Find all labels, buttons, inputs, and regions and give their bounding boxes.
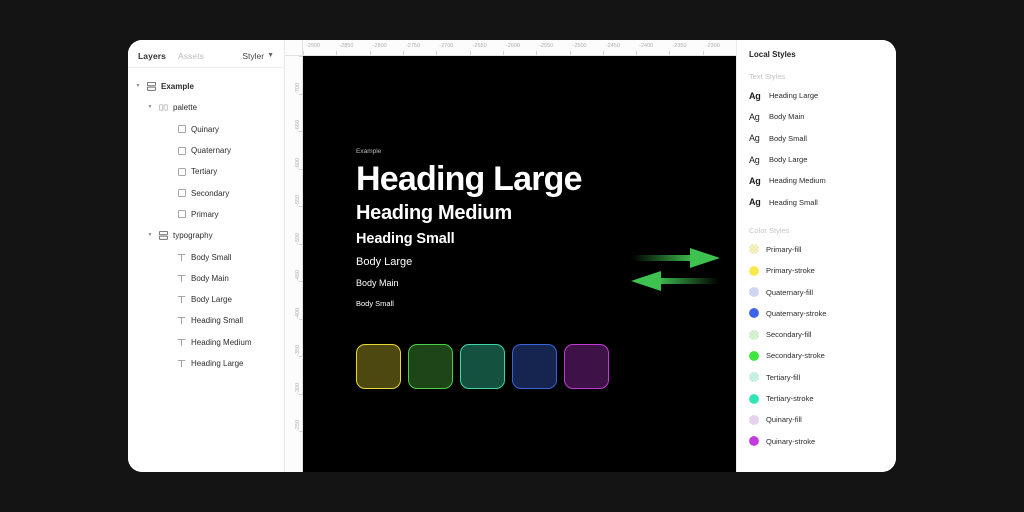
caret-placeholder: ▼ xyxy=(164,191,172,196)
tab-layers[interactable]: Layers xyxy=(138,51,166,61)
layer-label: Primary xyxy=(191,210,219,219)
color-swatch-icon xyxy=(749,308,759,318)
layer-row-tertiary[interactable]: ▼Tertiary xyxy=(128,161,284,182)
color-style-row[interactable]: Tertiary-fill xyxy=(737,367,896,388)
text-style-preview-icon: Ag xyxy=(749,155,762,165)
palette-swatch-primary[interactable] xyxy=(356,344,401,389)
color-style-row[interactable]: Primary-stroke xyxy=(737,260,896,281)
color-style-row[interactable]: Quinary-stroke xyxy=(737,430,896,451)
text-style-label: Body Main xyxy=(769,112,804,121)
styler-label: Styler xyxy=(242,51,264,61)
text-style-label: Body Small xyxy=(769,134,807,143)
ruler-tick-h: -2300 xyxy=(703,40,736,55)
layer-label: palette xyxy=(173,103,197,112)
text-icon xyxy=(176,294,187,305)
component-set-icon xyxy=(146,81,157,92)
layer-label: Heading Large xyxy=(191,359,243,368)
caret-placeholder: ▼ xyxy=(164,361,172,366)
color-style-row[interactable]: Quaternary-fill xyxy=(737,281,896,302)
tab-assets[interactable]: Assets xyxy=(178,51,204,61)
caret-expanded-icon[interactable]: ▼ xyxy=(146,233,154,238)
ruler-tick-h: -2650 xyxy=(470,40,503,55)
text-style-row[interactable]: AgBody Large xyxy=(737,149,896,170)
text-style-label: Body Large xyxy=(769,155,807,164)
color-style-row[interactable]: Quaternary-stroke xyxy=(737,303,896,324)
canvas-area: -2900-2850-2800-2750-2700-2650-2600-2550… xyxy=(284,40,736,472)
layer-label: Quaternary xyxy=(191,146,231,155)
layers-panel-tabs: Layers Assets Styler ▼ xyxy=(128,44,284,68)
text-style-preview-icon: Ag xyxy=(749,197,762,207)
layer-label: Example xyxy=(161,82,194,91)
type-specimen[interactable]: Body Small xyxy=(356,294,582,314)
arrow-left-icon xyxy=(631,271,719,291)
layer-label: Secondary xyxy=(191,189,229,198)
text-style-preview-icon: Ag xyxy=(749,133,762,143)
color-style-label: Tertiary-stroke xyxy=(766,394,814,403)
text-style-label: Heading Large xyxy=(769,91,818,100)
text-style-preview-icon: Ag xyxy=(749,91,762,101)
layer-row-palette[interactable]: ▼palette xyxy=(128,97,284,118)
component-set-icon xyxy=(158,230,169,241)
ruler-tick-h: -2500 xyxy=(570,40,603,55)
layer-row-body-large[interactable]: ▼Body Large xyxy=(128,289,284,310)
color-style-label: Secondary-stroke xyxy=(766,351,825,360)
ruler-tick-h: -2350 xyxy=(669,40,702,55)
local-styles-title: Local Styles xyxy=(737,48,896,59)
layer-row-heading-medium[interactable]: ▼Heading Medium xyxy=(128,332,284,353)
text-style-row[interactable]: AgHeading Small xyxy=(737,191,896,212)
rectangle-icon xyxy=(176,166,187,177)
ruler-tick-h: -2400 xyxy=(636,40,669,55)
ruler-tick-h: -2550 xyxy=(536,40,569,55)
vertical-ruler[interactable]: -750-700-650-600-550-500-450-400-350-300… xyxy=(285,56,303,472)
frame-label: Example xyxy=(356,148,381,155)
palette-swatch-quinary[interactable] xyxy=(564,344,609,389)
text-style-preview-icon: Ag xyxy=(749,176,762,186)
horizontal-ruler[interactable]: -2900-2850-2800-2750-2700-2650-2600-2550… xyxy=(303,40,736,56)
arrow-pair-graphic xyxy=(628,246,723,298)
color-swatch-icon xyxy=(749,372,759,382)
color-style-label: Primary-fill xyxy=(766,245,801,254)
type-specimen[interactable]: Body Main xyxy=(356,273,582,294)
color-swatch-icon xyxy=(749,415,759,425)
text-style-label: Heading Medium xyxy=(769,176,826,185)
text-styles-header: Text Styles xyxy=(737,59,896,85)
caret-expanded-icon[interactable]: ▼ xyxy=(146,105,154,110)
palette-swatch-row xyxy=(356,344,609,389)
caret-placeholder: ▼ xyxy=(164,148,172,153)
color-style-label: Secondary-fill xyxy=(766,330,811,339)
caret-placeholder: ▼ xyxy=(164,276,172,281)
ruler-corner xyxy=(285,40,303,56)
layer-row-body-main[interactable]: ▼Body Main xyxy=(128,268,284,289)
grid-icon xyxy=(158,102,169,113)
color-swatch-icon xyxy=(749,394,759,404)
color-swatch-icon xyxy=(749,266,759,276)
color-style-label: Quaternary-stroke xyxy=(766,309,826,318)
color-swatch-icon xyxy=(749,330,759,340)
layer-tree: ▼Example▼palette▼Quinary▼Quaternary▼Tert… xyxy=(128,68,284,374)
type-specimen[interactable]: Heading Medium xyxy=(356,198,582,228)
layer-label: Heading Small xyxy=(191,316,243,325)
color-style-row[interactable]: Quinary-fill xyxy=(737,409,896,430)
chevron-down-icon: ▼ xyxy=(267,52,274,59)
rectangle-icon xyxy=(176,124,187,135)
color-style-row[interactable]: Secondary-fill xyxy=(737,324,896,345)
caret-placeholder: ▼ xyxy=(164,212,172,217)
caret-placeholder: ▼ xyxy=(164,255,172,260)
caret-placeholder: ▼ xyxy=(164,340,172,345)
ruler-tick-h: -2800 xyxy=(370,40,403,55)
type-specimen[interactable]: Body Large xyxy=(356,252,582,273)
type-specimen[interactable]: Heading Large xyxy=(356,160,582,198)
layer-row-example[interactable]: ▼Example xyxy=(128,76,284,97)
color-style-label: Tertiary-fill xyxy=(766,373,800,382)
layer-label: typography xyxy=(173,231,213,240)
text-icon xyxy=(176,273,187,284)
layer-row-heading-small[interactable]: ▼Heading Small xyxy=(128,310,284,331)
layer-row-quinary[interactable]: ▼Quinary xyxy=(128,119,284,140)
color-swatch-icon xyxy=(749,351,759,361)
color-swatch-icon xyxy=(749,436,759,446)
design-tool-window: Layers Assets Styler ▼ ▼Example▼palette▼… xyxy=(128,40,896,472)
text-style-row[interactable]: AgHeading Medium xyxy=(737,170,896,191)
ruler-tick-h: -2600 xyxy=(503,40,536,55)
layer-label: Heading Medium xyxy=(191,338,251,347)
layer-row-typography[interactable]: ▼typography xyxy=(128,225,284,246)
text-icon xyxy=(176,252,187,263)
ruler-tick-h: -2700 xyxy=(436,40,469,55)
arrow-right-icon xyxy=(632,248,720,268)
layer-label: Tertiary xyxy=(191,167,217,176)
color-style-row[interactable]: Tertiary-stroke xyxy=(737,388,896,409)
layers-panel: Layers Assets Styler ▼ ▼Example▼palette▼… xyxy=(128,40,284,472)
local-styles-panel: Local Styles Text Styles AgHeading Large… xyxy=(736,40,896,472)
layer-row-quaternary[interactable]: ▼Quaternary xyxy=(128,140,284,161)
layer-label: Body Large xyxy=(191,295,232,304)
color-style-row[interactable]: Secondary-stroke xyxy=(737,345,896,366)
layer-row-primary[interactable]: ▼Primary xyxy=(128,204,284,225)
text-style-row[interactable]: AgBody Small xyxy=(737,128,896,149)
layer-row-secondary[interactable]: ▼Secondary xyxy=(128,182,284,203)
caret-placeholder: ▼ xyxy=(164,127,172,132)
color-swatch-icon xyxy=(749,244,759,254)
layer-label: Body Main xyxy=(191,274,229,283)
ruler-tick-h: -2750 xyxy=(403,40,436,55)
text-style-preview-icon: Ag xyxy=(749,112,762,122)
color-style-label: Quinary-fill xyxy=(766,415,802,424)
type-specimen-stack: Heading LargeHeading MediumHeading Small… xyxy=(356,160,582,314)
type-specimen[interactable]: Heading Small xyxy=(356,228,582,252)
layer-label: Quinary xyxy=(191,125,219,134)
layer-row-body-small[interactable]: ▼Body Small xyxy=(128,246,284,267)
text-icon xyxy=(176,337,187,348)
color-swatch-icon xyxy=(749,287,759,297)
rectangle-icon xyxy=(176,209,187,220)
text-styles-list: AgHeading LargeAgBody MainAgBody SmallAg… xyxy=(737,85,896,213)
caret-placeholder: ▼ xyxy=(164,169,172,174)
ruler-tick-h: -2850 xyxy=(336,40,369,55)
ruler-tick-h: -2900 xyxy=(303,40,336,55)
text-icon xyxy=(176,315,187,326)
color-style-label: Quaternary-fill xyxy=(766,288,813,297)
palette-swatch-secondary[interactable] xyxy=(408,344,453,389)
caret-expanded-icon[interactable]: ▼ xyxy=(134,84,142,89)
color-style-label: Quinary-stroke xyxy=(766,437,815,446)
rectangle-icon xyxy=(176,188,187,199)
color-styles-header: Color Styles xyxy=(737,213,896,239)
layer-label: Body Small xyxy=(191,253,231,262)
text-style-row[interactable]: AgHeading Large xyxy=(737,85,896,106)
layer-row-heading-large[interactable]: ▼Heading Large xyxy=(128,353,284,374)
caret-placeholder: ▼ xyxy=(164,297,172,302)
text-icon xyxy=(176,358,187,369)
color-style-row[interactable]: Primary-fill xyxy=(737,239,896,260)
rectangle-icon xyxy=(176,145,187,156)
text-style-label: Heading Small xyxy=(769,198,818,207)
palette-swatch-tertiary[interactable] xyxy=(460,344,505,389)
text-style-row[interactable]: AgBody Main xyxy=(737,106,896,127)
color-styles-list: Primary-fillPrimary-strokeQuaternary-fil… xyxy=(737,239,896,452)
palette-swatch-quaternary[interactable] xyxy=(512,344,557,389)
design-canvas[interactable]: Example Heading LargeHeading MediumHeadi… xyxy=(303,56,736,472)
ruler-tick-h: -2450 xyxy=(603,40,636,55)
caret-placeholder: ▼ xyxy=(164,318,172,323)
styler-dropdown[interactable]: Styler ▼ xyxy=(242,51,274,61)
color-style-label: Primary-stroke xyxy=(766,266,815,275)
